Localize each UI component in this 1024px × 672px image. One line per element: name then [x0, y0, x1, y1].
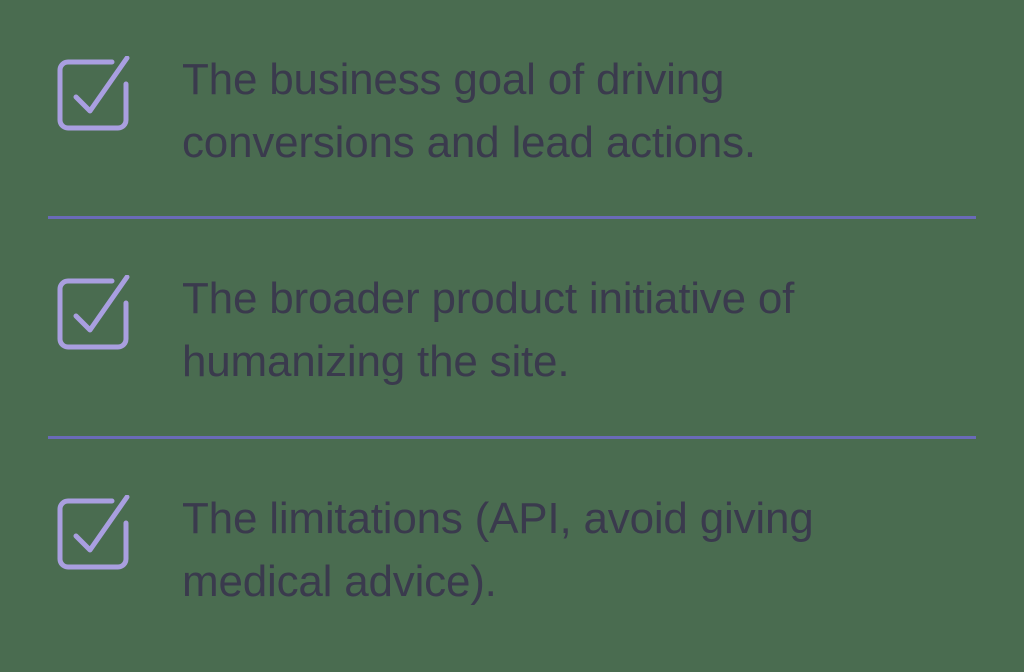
- checklist: The business goal of driving conversions…: [0, 0, 1024, 672]
- checklist-item-label: The limitations (API, avoid giving medic…: [182, 487, 1024, 613]
- checked-checkbox-icon[interactable]: [54, 275, 130, 351]
- checklist-item-business-goal: The business goal of driving conversions…: [0, 0, 1024, 219]
- checked-checkbox-icon[interactable]: [54, 495, 130, 571]
- checklist-item-limitations: The limitations (API, avoid giving medic…: [0, 439, 1024, 672]
- checklist-item-label: The business goal of driving conversions…: [182, 48, 1024, 174]
- checkbox-cell: [0, 487, 182, 571]
- checklist-item-product-initiative: The broader product initiative of humani…: [0, 219, 1024, 439]
- checklist-item-label: The broader product initiative of humani…: [182, 267, 1024, 393]
- checked-checkbox-icon[interactable]: [54, 56, 130, 132]
- checkbox-cell: [0, 48, 182, 132]
- checkbox-cell: [0, 267, 182, 351]
